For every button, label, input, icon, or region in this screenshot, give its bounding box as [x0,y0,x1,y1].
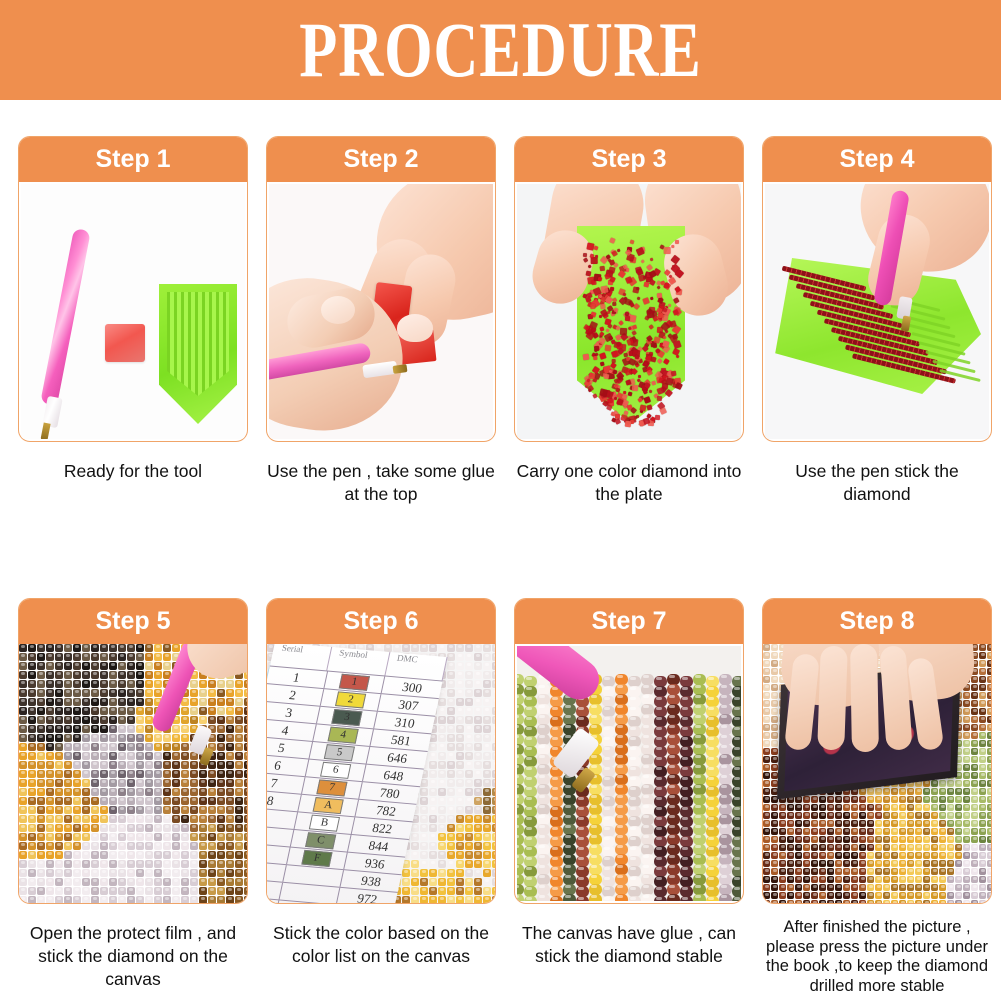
step-badge-label-5: Step 5 [95,609,170,634]
step-badge-label-3: Step 3 [591,147,666,172]
step-photo-7 [517,646,741,901]
step-caption-4: Use the pen stick the diamond [762,460,992,506]
step-photo-6: SerialSymbolDMC1130022307333104458155646… [267,644,495,903]
step-badge-2: Step 2 [267,137,495,182]
step-badge-label-4: Step 4 [839,147,914,172]
step-badge-label-1: Step 1 [95,147,170,172]
scene-pen-takes-glue [269,184,493,439]
step-cell-3: Step 3 Carry one color diamond into the … [514,136,744,506]
glue-square-icon [105,324,145,362]
step-photo-8 [763,644,991,903]
step-cell-5: Step 5 Open the protect film , and stick… [18,598,248,996]
step-card-3[interactable]: Step 3 [514,136,744,442]
step-cell-8: Step 8 After finished the picture , plea… [762,598,992,996]
step-card-7[interactable]: Step 7 [514,598,744,904]
step-card-1[interactable]: Step 1 [18,136,248,442]
step-badge-4: Step 4 [763,137,991,182]
scene-glued-diamond-rows [517,646,741,901]
step-photo-1 [21,184,245,439]
step-photo-4 [765,184,989,439]
step-badge-label-7: Step 7 [591,609,666,634]
page-header-banner: PROCEDURE [0,0,1001,100]
page-title: PROCEDURE [299,11,701,89]
step-caption-3: Carry one color diamond into the plate [514,460,744,506]
step-photo-2 [269,184,493,439]
step-card-4[interactable]: Step 4 [762,136,992,442]
fingernail-icon [397,314,433,342]
step-caption-1: Ready for the tool [18,460,248,483]
step-badge-label-2: Step 2 [343,147,418,172]
step-cell-7: Step 7 The canvas have glue , can stick … [514,598,744,996]
step-photo-3 [517,184,741,439]
scene-canvas-mosaic [19,644,247,903]
pen-tip-icon [40,422,50,439]
step-badge-5: Step 5 [19,599,247,644]
scene-color-list: SerialSymbolDMC1130022307333104458155646… [267,644,495,903]
step-caption-8: After finished the picture , please pres… [762,918,992,996]
step-cell-1: Step 1 Ready for the tool [18,136,248,506]
step-caption-6: Stick the color based on the color list … [266,922,496,968]
pink-pen-icon [40,228,91,406]
step-card-6[interactable]: Step 6 SerialSymbolDMC113002230733310445… [266,598,496,904]
step-badge-3: Step 3 [515,137,743,182]
step-caption-7: The canvas have glue , can stick the dia… [514,922,744,968]
fingernail-icon [321,296,355,324]
step-badge-7: Step 7 [515,599,743,644]
scene-pen-picks-diamond [765,184,989,439]
step-badge-8: Step 8 [763,599,991,644]
step-badge-label-8: Step 8 [839,609,914,634]
canvas-mosaic-icon [19,644,247,903]
step-cell-6: Step 6 SerialSymbolDMC113002230733310445… [266,598,496,996]
step-badge-6: Step 6 [267,599,495,644]
step-cell-2: Step 2 [266,136,496,506]
step-caption-2: Use the pen , take some glue at the top [266,460,496,506]
procedure-infographic: PROCEDURE Step 1 [0,0,1001,1001]
scene-press-with-book [763,644,991,903]
step-card-8[interactable]: Step 8 [762,598,992,904]
step-card-5[interactable]: Step 5 [18,598,248,904]
step-cell-4: Step 4 Use the pen stick the diamond [762,136,992,506]
scene-tools-layout [21,184,245,439]
step-badge-1: Step 1 [19,137,247,182]
step-card-2[interactable]: Step 2 [266,136,496,442]
step-photo-5 [19,644,247,903]
scene-diamonds-in-tray [517,184,741,439]
row-spacer [18,506,992,598]
step-badge-label-6: Step 6 [343,609,418,634]
step-caption-5: Open the protect film , and stick the di… [18,922,248,991]
steps-grid: Step 1 Ready for the tool [18,136,986,996]
pen-tip-icon [393,364,408,374]
